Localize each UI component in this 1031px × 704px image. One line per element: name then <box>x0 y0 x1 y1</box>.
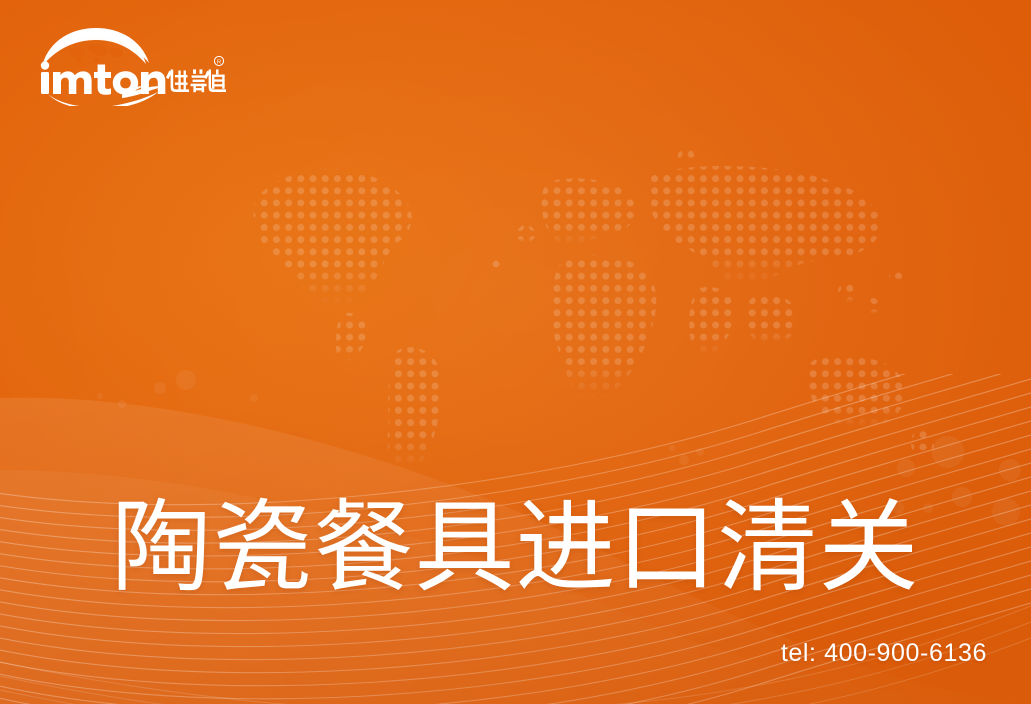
trademark-icon: R <box>214 56 223 65</box>
promo-banner: R 陶瓷餐具进口清关 代理公司 tel: 400-900-6136 <box>0 0 1031 704</box>
contact-phone: tel: 400-900-6136 <box>781 639 987 668</box>
svg-text:R: R <box>217 60 221 66</box>
page-title-line-1: 陶瓷餐具进口清关 <box>0 484 1031 612</box>
logo-chinese-name <box>166 69 226 92</box>
company-logo[interactable]: R <box>36 26 226 106</box>
page-title: 陶瓷餐具进口清关 代理公司 <box>0 228 1031 704</box>
